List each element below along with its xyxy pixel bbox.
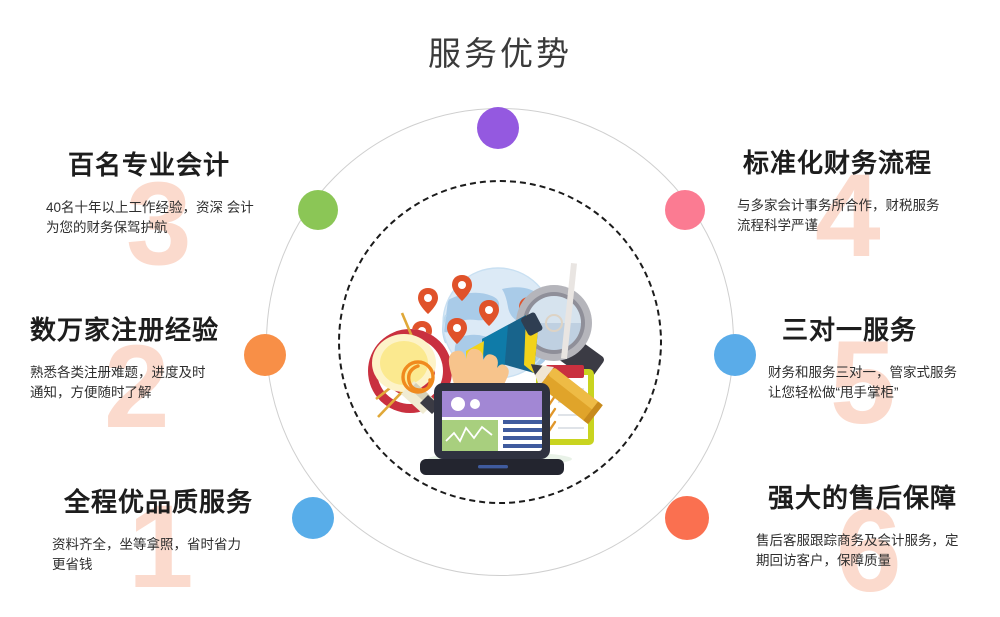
feature-desc-5: 财务和服务三对一，管家式服务 让您轻松做“甩手掌柜”	[768, 363, 1000, 404]
feature-title-5: 三对一服务	[782, 310, 1000, 347]
feature-title-1: 全程优品质服务	[64, 482, 298, 519]
feature-item-4[interactable]: 4 标准化财务流程 与多家会计事务所合作，财税服务 流程科学严谨	[737, 143, 995, 237]
feature-title-4: 标准化财务流程	[743, 143, 995, 180]
node-dot-coral[interactable]	[665, 496, 709, 540]
business-services-illustration	[350, 245, 650, 475]
node-dot-blue-left[interactable]	[292, 497, 334, 539]
page-title: 服务优势	[0, 27, 1000, 75]
node-dot-blue-right[interactable]	[714, 334, 756, 376]
feature-desc-1: 资料齐全，坐等拿照，省时省力 更省钱	[52, 535, 298, 576]
feature-desc-2: 熟悉各类注册难题，进度及时 通知，方便随时了解	[30, 363, 274, 404]
feature-desc-4: 与多家会计事务所合作，财税服务 流程科学严谨	[737, 196, 995, 237]
feature-item-5[interactable]: 5 三对一服务 财务和服务三对一，管家式服务 让您轻松做“甩手掌柜”	[768, 310, 1000, 404]
feature-item-6[interactable]: 6 强大的售后保障 售后客服跟踪商务及会计服务，定 期回访客户，保障质量	[764, 478, 1000, 572]
node-dot-pink[interactable]	[665, 190, 705, 230]
node-dot-purple[interactable]	[477, 107, 519, 149]
feature-desc-6: 售后客服跟踪商务及会计服务，定 期回访客户，保障质量	[756, 531, 1000, 572]
feature-title-3: 百名专业会计	[68, 145, 298, 182]
feature-item-3[interactable]: 3 百名专业会计 40名十年以上工作经验，资深 会计 为您的财务保驾护航	[46, 145, 298, 239]
laptop-icon	[420, 383, 564, 475]
infographic-stage: 服务优势 3 百名专业会计 40名十年以上工作经验，资深 会计 为您的财务保驾护…	[0, 0, 1000, 616]
feature-item-1[interactable]: 1 全程优品质服务 资料齐全，坐等拿照，省时省力 更省钱	[46, 482, 298, 576]
feature-title-6: 强大的售后保障	[768, 478, 1000, 515]
feature-desc-3: 40名十年以上工作经验，资深 会计 为您的财务保驾护航	[46, 198, 298, 239]
node-dot-green[interactable]	[298, 190, 338, 230]
feature-item-2[interactable]: 2 数万家注册经验 熟悉各类注册难题，进度及时 通知，方便随时了解	[22, 310, 274, 404]
feature-title-2: 数万家注册经验	[30, 310, 274, 347]
